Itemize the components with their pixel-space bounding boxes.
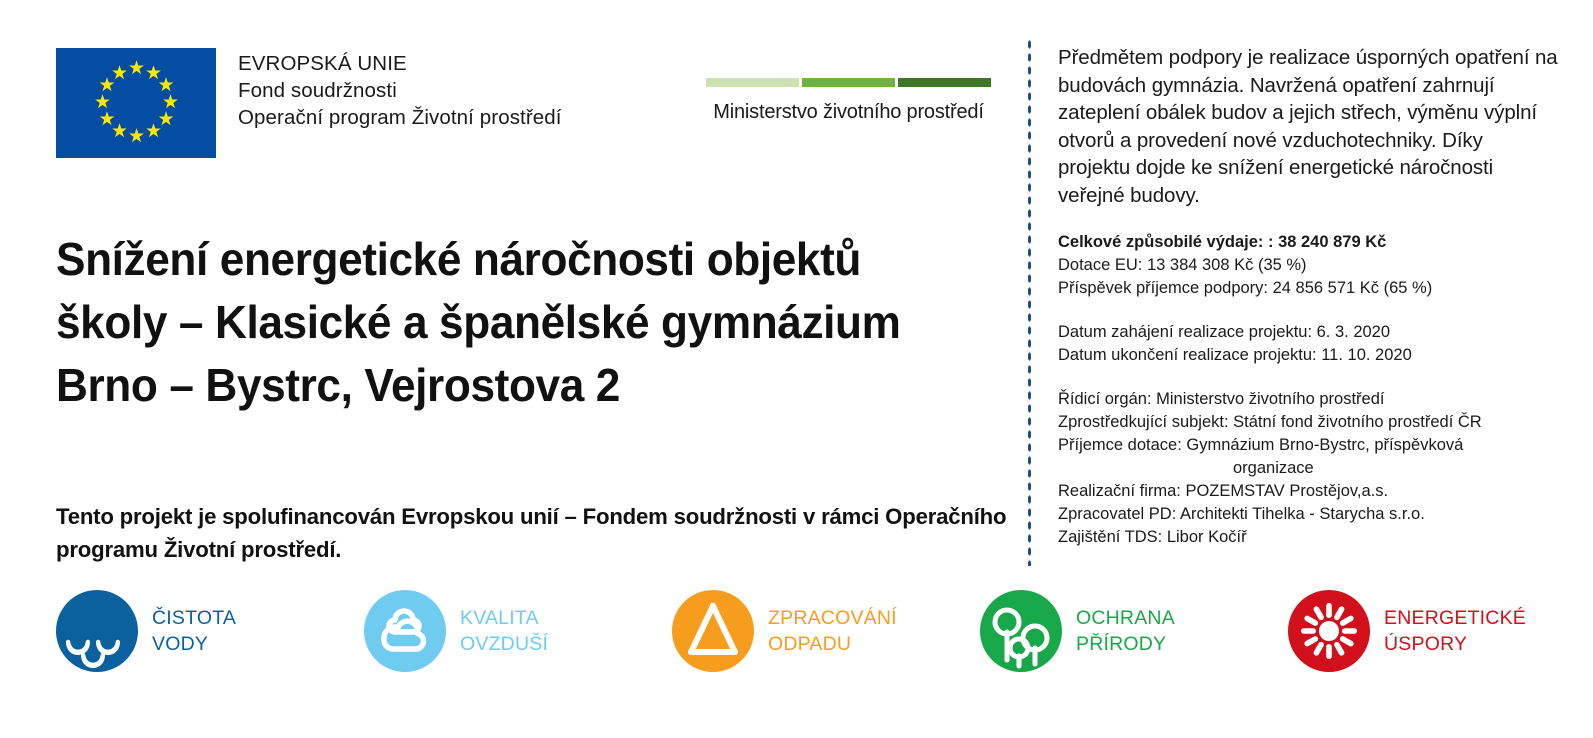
theme-label-energy-line2: ÚSPORY <box>1384 631 1526 657</box>
total-eligible-costs: Celkové způsobilé výdaje: : 38 240 879 K… <box>1058 231 1558 254</box>
design-documentation-author: Zpracovatel PD: Architekti Tihelka - Sta… <box>1058 503 1558 526</box>
eu-star: ★ <box>99 112 115 128</box>
ministry-bars-icon <box>706 78 991 87</box>
grant-recipient-cont: organizace <box>1058 457 1558 480</box>
ministry-name: Ministerstvo životního prostředí <box>706 101 991 124</box>
ministry-bar-dark <box>898 78 991 87</box>
recycling-triangle-icon <box>672 590 754 672</box>
eu-emblem-text: EVROPSKÁ UNIE Fond soudržnosti Operační … <box>238 50 562 131</box>
dotted-divider-icon <box>1027 38 1032 566</box>
facts-spacer-2 <box>1058 367 1558 388</box>
theme-label-air: KVALITA OVZDUŠÍ <box>460 605 548 657</box>
contractor: Realizační firma: POZEMSTAV Prostějov,a.… <box>1058 480 1558 503</box>
dates-group: Datum zahájení realizace projektu: 6. 3.… <box>1058 321 1558 367</box>
theme-item-water: ČISTOTA VODY <box>56 590 236 672</box>
theme-label-nature-line1: OCHRANA <box>1076 607 1175 629</box>
theme-label-water: ČISTOTA VODY <box>152 605 236 657</box>
ministry-bar-light <box>706 78 799 87</box>
eu-star: ★ <box>111 66 127 82</box>
billboard-root: ★★★★★★★★★★★★ EVROPSKÁ UNIE Fond soudržno… <box>0 0 1593 738</box>
project-details-column: Předmětem podpory je realizace úsporných… <box>1058 44 1558 549</box>
project-description: Předmětem podpory je realizace úsporných… <box>1058 44 1558 209</box>
theme-item-nature: OCHRANA PŘÍRODY <box>980 590 1175 672</box>
theme-icon-strip: ČISTOTA VODY KVALITA OVZDUŠÍ <box>0 590 1593 700</box>
eu-star: ★ <box>128 129 144 145</box>
theme-label-water-line1: ČISTOTA <box>152 607 236 629</box>
eu-line-2: Fond soudržnosti <box>238 77 562 104</box>
cofinancing-statement: Tento projekt je spolufinancován Evropsk… <box>56 500 1011 566</box>
clouds-icon <box>364 590 446 672</box>
sun-rays-icon <box>1288 590 1370 672</box>
eu-star: ★ <box>94 95 110 111</box>
page-title: Snížení energetické náročnosti objektů š… <box>56 228 978 417</box>
eu-flag-icon: ★★★★★★★★★★★★ <box>56 48 216 158</box>
eu-star: ★ <box>128 61 144 77</box>
theme-label-air-line1: KVALITA <box>460 607 539 629</box>
beneficiary-contribution: Příspěvek příjemce podpory: 24 856 571 K… <box>1058 277 1558 300</box>
finance-group: Celkové způsobilé výdaje: : 38 240 879 K… <box>1058 231 1558 300</box>
theme-label-energy: ENERGETICKÉ ÚSPORY <box>1384 605 1526 657</box>
trees-icon <box>980 590 1062 672</box>
eu-star: ★ <box>145 124 161 140</box>
technical-supervision: Zajištění TDS: Libor Kočíř <box>1058 526 1558 549</box>
theme-label-nature-line2: PŘÍRODY <box>1076 631 1175 657</box>
project-end-date: Datum ukončení realizace projektu: 11. 1… <box>1058 344 1558 367</box>
ministry-logo-block: Ministerstvo životního prostředí <box>706 78 991 124</box>
theme-label-waste: ZPRACOVÁNÍ ODPADU <box>768 605 897 657</box>
ministry-bar-medium <box>802 78 895 87</box>
theme-label-nature: OCHRANA PŘÍRODY <box>1076 605 1175 657</box>
theme-label-air-line2: OVZDUŠÍ <box>460 631 548 657</box>
project-start-date: Datum zahájení realizace projektu: 6. 3.… <box>1058 321 1558 344</box>
theme-label-energy-line1: ENERGETICKÉ <box>1384 607 1526 629</box>
theme-item-waste: ZPRACOVÁNÍ ODPADU <box>672 590 897 672</box>
theme-label-waste-line2: ODPADU <box>768 631 897 657</box>
eu-line-3: Operační program Životní prostředí <box>238 104 562 131</box>
theme-item-air: KVALITA OVZDUŠÍ <box>364 590 548 672</box>
eu-line-1: EVROPSKÁ UNIE <box>238 50 562 77</box>
intermediate-body: Zprostředkující subjekt: Státní fond živ… <box>1058 411 1558 434</box>
theme-label-waste-line1: ZPRACOVÁNÍ <box>768 607 897 629</box>
theme-item-energy: ENERGETICKÉ ÚSPORY <box>1288 590 1526 672</box>
eu-subsidy: Dotace EU: 13 384 308 Kč (35 %) <box>1058 254 1558 277</box>
eu-emblem-block: ★★★★★★★★★★★★ EVROPSKÁ UNIE Fond soudržno… <box>56 48 562 158</box>
managing-authority: Řídicí orgán: Ministerstvo životního pro… <box>1058 388 1558 411</box>
facts-spacer-1 <box>1058 300 1558 321</box>
theme-label-water-line2: VODY <box>152 631 236 657</box>
water-drops-icon <box>56 590 138 672</box>
grant-recipient: Příjemce dotace: Gymnázium Brno-Bystrc, … <box>1058 434 1558 457</box>
parties-group: Řídicí orgán: Ministerstvo životního pro… <box>1058 388 1558 549</box>
project-facts: Celkové způsobilé výdaje: : 38 240 879 K… <box>1058 231 1558 549</box>
